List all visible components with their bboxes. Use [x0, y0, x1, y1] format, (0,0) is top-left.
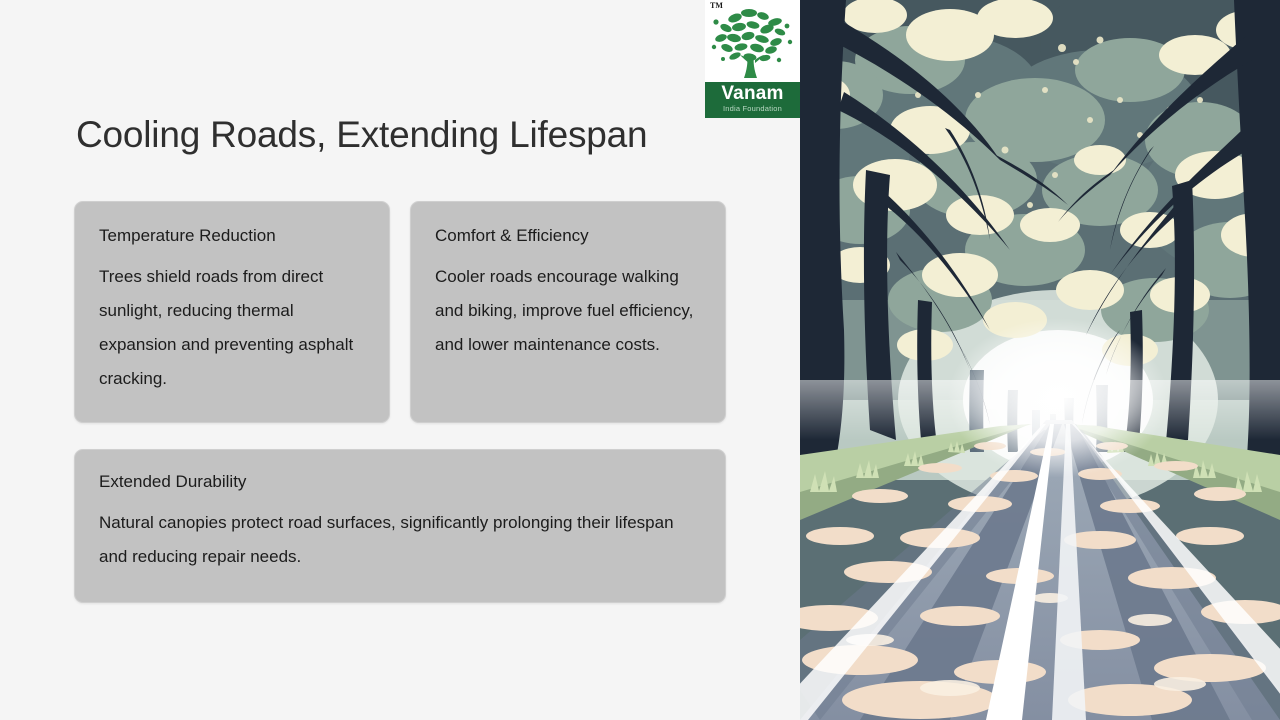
- card-inner: Comfort & Efficiency Cooler roads encour…: [411, 202, 725, 362]
- content-panel: Cooling Roads, Extending Lifespan Temper…: [0, 0, 800, 720]
- card-temperature-reduction: Temperature Reduction Trees shield roads…: [74, 201, 390, 423]
- card-body: Trees shield roads from direct sunlight,…: [99, 260, 365, 396]
- tree-lined-road-illustration: [800, 0, 1280, 720]
- card-heading: Extended Durability: [99, 472, 701, 492]
- card-heading: Comfort & Efficiency: [435, 226, 701, 246]
- presentation-slide: Cooling Roads, Extending Lifespan Temper…: [0, 0, 1280, 720]
- card-extended-durability: Extended Durability Natural canopies pro…: [74, 449, 726, 603]
- card-comfort-efficiency: Comfort & Efficiency Cooler roads encour…: [410, 201, 726, 423]
- road-canopy-artwork: [800, 0, 1280, 720]
- vanam-logo: TM: [705, 0, 800, 118]
- card-body: Cooler roads encourage walking and bikin…: [435, 260, 701, 362]
- tree-of-animals-icon: [705, 2, 800, 82]
- card-inner: Extended Durability Natural canopies pro…: [75, 450, 725, 574]
- logo-name: Vanam: [705, 84, 800, 103]
- card-inner: Temperature Reduction Trees shield roads…: [75, 202, 389, 396]
- card-heading: Temperature Reduction: [99, 226, 365, 246]
- page-title: Cooling Roads, Extending Lifespan: [76, 114, 647, 156]
- logo-subtitle: India Foundation: [705, 103, 800, 115]
- logo-name-band: Vanam India Foundation: [705, 82, 800, 118]
- card-body: Natural canopies protect road surfaces, …: [99, 506, 701, 574]
